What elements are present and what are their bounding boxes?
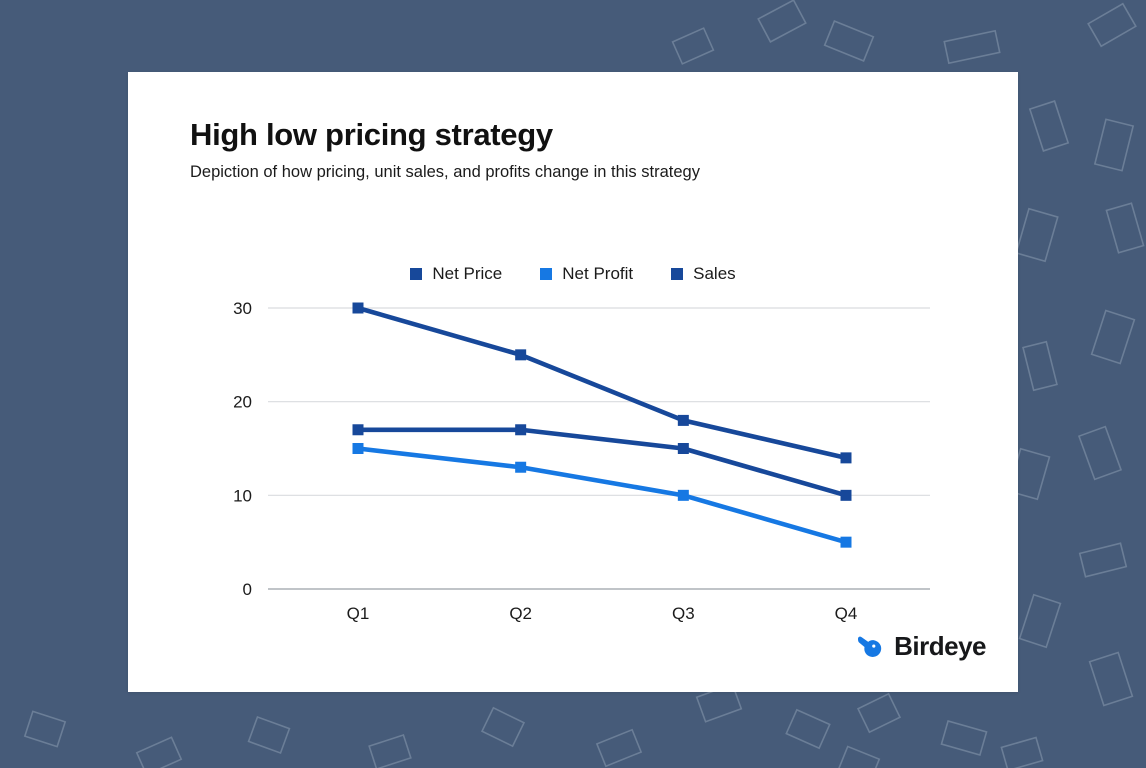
x-axis-tick-label: Q3 — [672, 604, 695, 623]
y-axis-tick-label: 20 — [233, 393, 252, 412]
data-point-marker — [353, 424, 364, 435]
data-point-marker — [515, 349, 526, 360]
x-axis-tick-label: Q4 — [835, 604, 858, 623]
data-point-marker — [515, 424, 526, 435]
data-point-marker — [353, 443, 364, 454]
data-point-marker — [678, 415, 689, 426]
y-axis-tick-label: 0 — [243, 580, 252, 599]
data-point-marker — [841, 490, 852, 501]
data-point-marker — [515, 462, 526, 473]
y-axis-tick-label: 10 — [233, 486, 252, 505]
chart-card: High low pricing strategy Depiction of h… — [128, 72, 1018, 692]
x-axis-tick-label: Q1 — [347, 604, 370, 623]
data-point-marker — [841, 452, 852, 463]
y-axis-tick-label: 30 — [233, 299, 252, 318]
line-chart-svg: 0102030Q1Q2Q3Q4 — [128, 72, 1018, 692]
brand-name: Birdeye — [894, 631, 986, 662]
series-line — [358, 308, 846, 458]
birdeye-bird-icon — [856, 634, 886, 660]
data-point-marker — [678, 490, 689, 501]
x-axis-tick-label: Q2 — [509, 604, 532, 623]
brand-logo: Birdeye — [856, 631, 986, 662]
chart-plot-area: 0102030Q1Q2Q3Q4 — [128, 72, 1018, 692]
data-point-marker — [353, 303, 364, 314]
data-point-marker — [678, 443, 689, 454]
data-point-marker — [841, 537, 852, 548]
